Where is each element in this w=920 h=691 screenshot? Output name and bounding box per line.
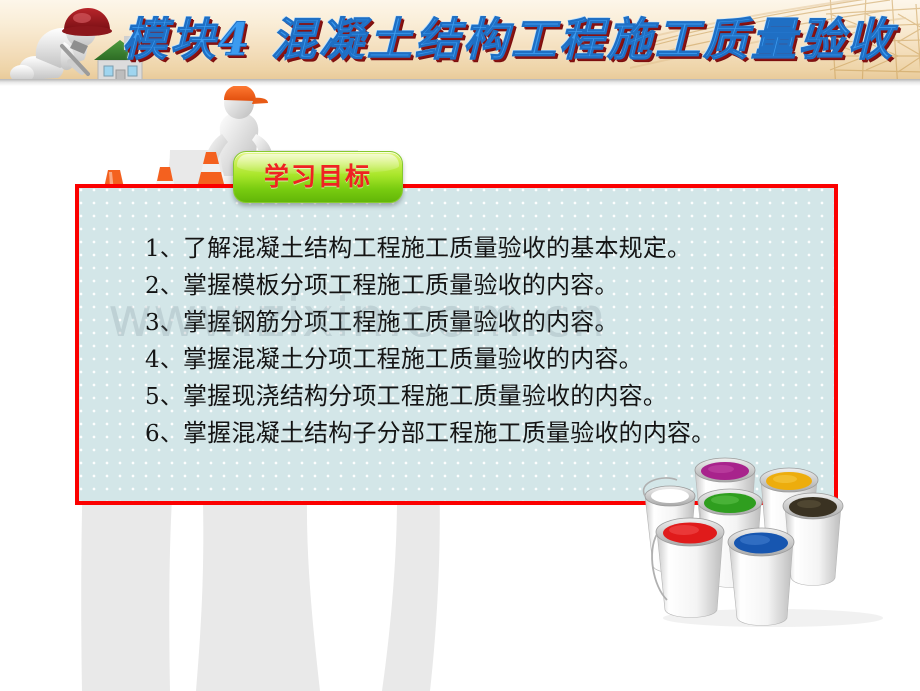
- list-item: 6、掌握混凝土结构子分部工程施工质量验收的内容。: [145, 415, 824, 452]
- list-item: 5、掌握现浇结构分项工程施工质量验收的内容。: [145, 378, 824, 415]
- list-item-number: 1、: [145, 236, 183, 262]
- learning-objectives-list: 1、了解混凝土结构工程施工质量验收的基本规定。 2、掌握模板分项工程施工质量验收…: [145, 230, 824, 452]
- list-item-number: 2、: [145, 273, 183, 299]
- header-banner: 模块4 混凝土结构工程施工质量验收: [0, 0, 920, 79]
- list-item-number: 4、: [145, 347, 183, 373]
- list-item-number: 6、: [145, 421, 183, 447]
- list-item-label: 掌握混凝土结构子分部工程施工质量验收的内容。: [183, 419, 715, 447]
- banner-shadow: [0, 79, 920, 86]
- list-item-label: 掌握现浇结构分项工程施工质量验收的内容。: [183, 382, 667, 410]
- list-item-label: 掌握模板分项工程施工质量验收的内容。: [183, 271, 619, 299]
- badge-label: 学习目标: [234, 152, 402, 202]
- slide-canvas: 模块4 混凝土结构工程施工质量验收: [0, 0, 920, 691]
- list-item: 1、了解混凝土结构工程施工质量验收的基本规定。: [145, 230, 824, 267]
- paint-buckets-icon: [633, 448, 901, 628]
- list-item: 4、掌握混凝土分项工程施工质量验收的内容。: [145, 341, 824, 378]
- list-item-label: 了解混凝土结构工程施工质量验收的基本规定。: [183, 234, 691, 262]
- list-item: 3、掌握钢筋分项工程施工质量验收的内容。: [145, 304, 824, 341]
- list-item-label: 掌握钢筋分项工程施工质量验收的内容。: [183, 308, 619, 336]
- list-item-label: 掌握混凝土分项工程施工质量验收的内容。: [183, 345, 643, 373]
- list-item-number: 3、: [145, 310, 183, 336]
- list-item: 2、掌握模板分项工程施工质量验收的内容。: [145, 267, 824, 304]
- page-title: 模块4 混凝土结构工程施工质量验收: [122, 8, 912, 72]
- list-item-number: 5、: [145, 384, 183, 410]
- learning-objectives-badge[interactable]: 学习目标: [233, 151, 403, 203]
